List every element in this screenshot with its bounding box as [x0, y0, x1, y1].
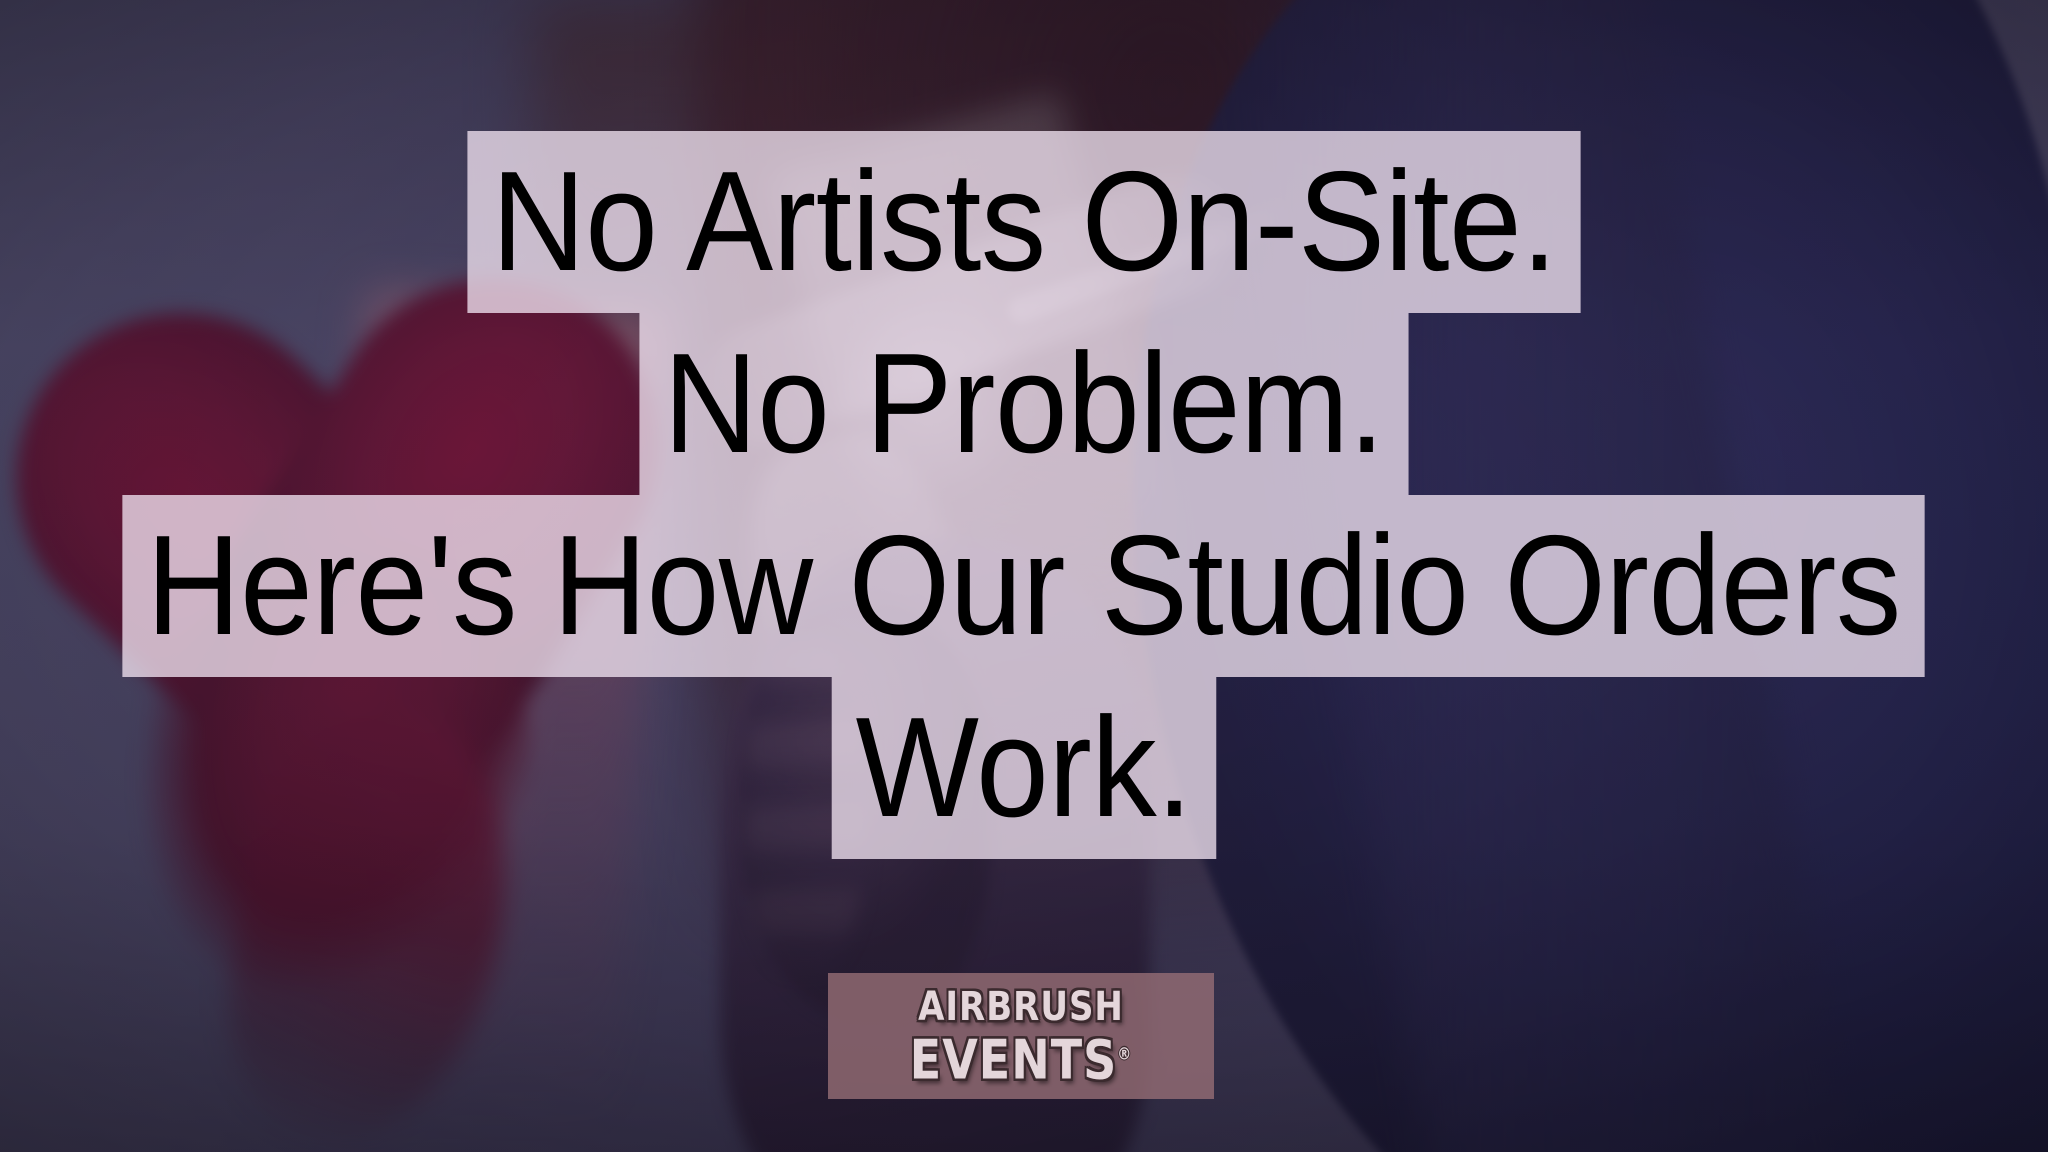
logo-bottom-text: EVENTS [910, 1028, 1117, 1092]
promo-graphic: No Artists On-Site. No Problem. Here's H… [0, 0, 2048, 1152]
logo-top-line: AIRBRUSH [918, 987, 1124, 1027]
airbrush-events-logo: AIRBRUSH EVENTS® [828, 973, 1214, 1099]
registered-trademark-icon: ® [1117, 1045, 1132, 1064]
logo-bottom-line: EVENTS® [910, 1029, 1132, 1086]
